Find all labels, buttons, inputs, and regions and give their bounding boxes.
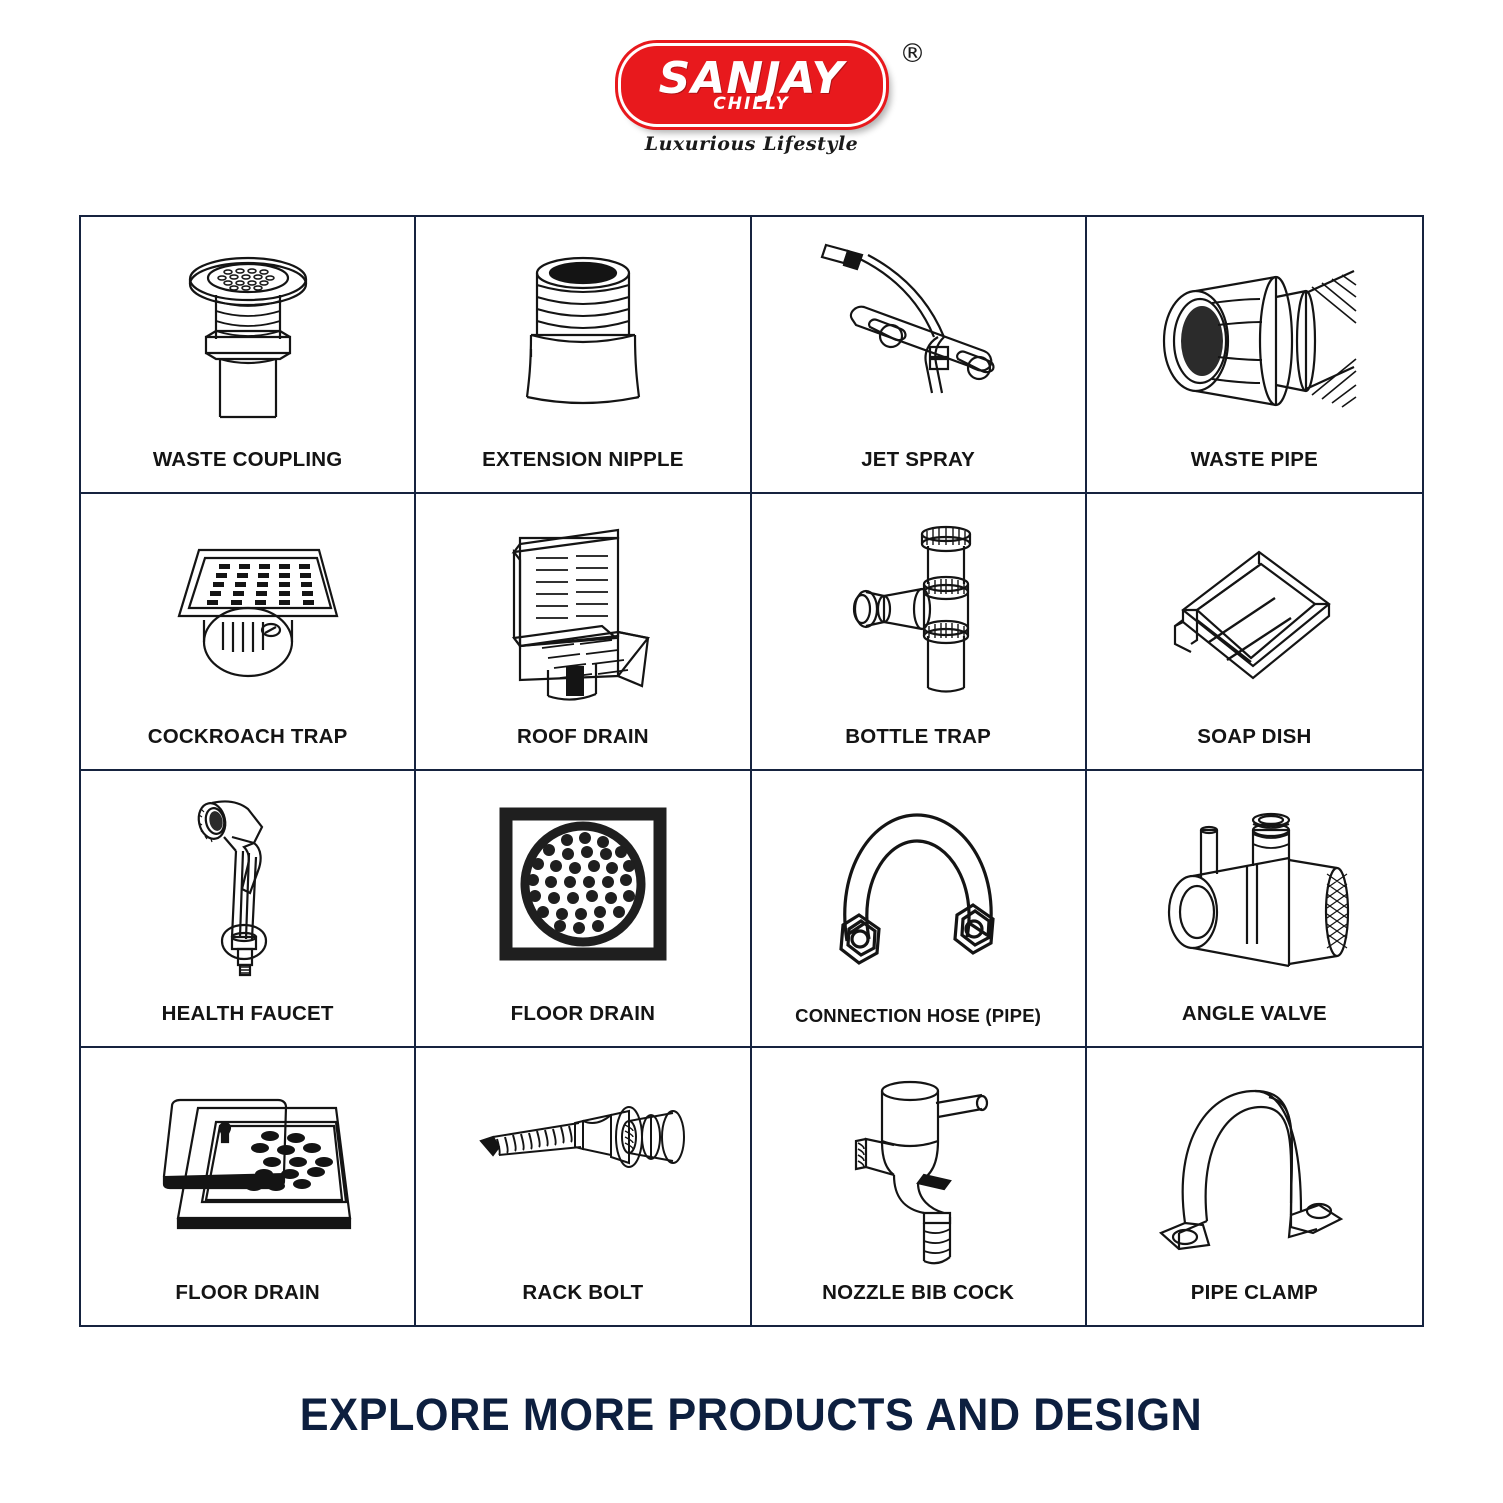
product-label: NOZZLE BIB COCK: [822, 1282, 1014, 1321]
product-label: SOAP DISH: [1197, 726, 1311, 765]
product-label: WASTE PIPE: [1191, 449, 1318, 488]
extension-nipple-icon: [422, 225, 743, 449]
product-cell-angle-valve[interactable]: ANGLE VALVE: [1087, 771, 1422, 1048]
logo-brand-name: SANJAY: [659, 59, 845, 99]
waste-coupling-icon: [87, 225, 408, 449]
product-cell-rack-bolt[interactable]: RACK BOLT: [416, 1048, 751, 1325]
rack-bolt-icon: [422, 1056, 743, 1282]
jet-spray-icon: [758, 225, 1079, 449]
cockroach-trap-icon: [87, 502, 408, 726]
waste-pipe-icon: [1093, 225, 1416, 449]
product-label: COCKROACH TRAP: [148, 726, 348, 765]
product-cell-pipe-clamp[interactable]: PIPE CLAMP: [1087, 1048, 1422, 1325]
pipe-clamp-icon: [1093, 1056, 1416, 1282]
health-faucet-icon: [87, 779, 408, 1003]
product-cell-soap-dish[interactable]: SOAP DISH: [1087, 494, 1422, 771]
footer: EXPLORE MORE PRODUCTS AND DESIGN: [0, 1327, 1503, 1503]
product-label: BOTTLE TRAP: [845, 726, 991, 765]
product-cell-bottle-trap[interactable]: BOTTLE TRAP: [752, 494, 1087, 771]
product-label: ROOF DRAIN: [517, 726, 649, 765]
angle-valve-icon: [1093, 779, 1416, 1003]
product-label: WASTE COUPLING: [153, 449, 343, 488]
product-cell-nozzle-bib-cock[interactable]: NOZZLE BIB COCK: [752, 1048, 1087, 1325]
product-cell-floor-drain-cover[interactable]: FLOOR DRAIN: [81, 1048, 416, 1325]
product-cell-cockroach-trap[interactable]: COCKROACH TRAP: [81, 494, 416, 771]
nozzle-bib-cock-icon: [758, 1056, 1079, 1282]
product-label: EXTENSION NIPPLE: [482, 449, 683, 488]
bottle-trap-icon: [758, 502, 1079, 726]
product-label: CONNECTION HOSE (PIPE): [795, 1006, 1041, 1042]
product-label: FLOOR DRAIN: [511, 1003, 656, 1042]
product-label: JET SPRAY: [861, 449, 975, 488]
product-label: RACK BOLT: [522, 1282, 643, 1321]
brand-tagline: Luxurious Lifestyle: [645, 133, 859, 155]
product-label: ANGLE VALVE: [1182, 1003, 1327, 1042]
product-cell-jet-spray[interactable]: JET SPRAY: [752, 217, 1087, 494]
product-cell-waste-pipe[interactable]: WASTE PIPE: [1087, 217, 1422, 494]
floor-drain-cover-icon: [87, 1056, 408, 1282]
product-label: PIPE CLAMP: [1191, 1282, 1318, 1321]
footer-headline: EXPLORE MORE PRODUCTS AND DESIGN: [300, 1389, 1203, 1441]
product-label: HEALTH FAUCET: [162, 1003, 334, 1042]
product-catalog-page: SANJAY CHILLY ® Luxurious Lifestyle: [0, 0, 1503, 1503]
connection-hose-icon: [758, 779, 1079, 1006]
product-cell-extension-nipple[interactable]: EXTENSION NIPPLE: [416, 217, 751, 494]
product-cell-connection-hose[interactable]: CONNECTION HOSE (PIPE): [752, 771, 1087, 1048]
product-cell-waste-coupling[interactable]: WASTE COUPLING: [81, 217, 416, 494]
soap-dish-icon: [1093, 502, 1416, 726]
product-cell-roof-drain[interactable]: ROOF DRAIN: [416, 494, 751, 771]
header: SANJAY CHILLY ® Luxurious Lifestyle: [0, 0, 1503, 215]
floor-drain-square-icon: [422, 779, 743, 1003]
product-cell-floor-drain-square[interactable]: FLOOR DRAIN: [416, 771, 751, 1048]
product-grid: WASTE COUPLING: [79, 215, 1424, 1327]
registered-trademark-icon: ®: [900, 39, 926, 69]
brand-logo: SANJAY CHILLY ® Luxurious Lifestyle: [602, 43, 902, 173]
roof-drain-icon: [422, 502, 743, 726]
logo-brand-sub: CHILLY: [713, 95, 789, 113]
logo-badge: SANJAY CHILLY: [618, 43, 886, 127]
product-label: FLOOR DRAIN: [175, 1282, 320, 1321]
product-cell-health-faucet[interactable]: HEALTH FAUCET: [81, 771, 416, 1048]
